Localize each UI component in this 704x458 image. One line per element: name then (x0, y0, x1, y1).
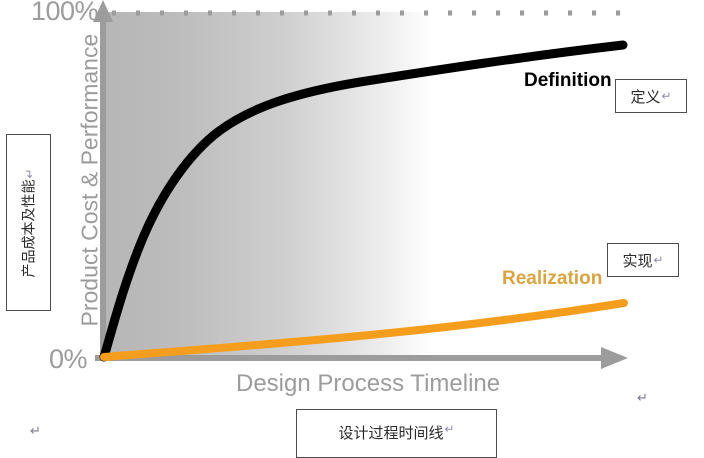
pilcrow-icon: ↵ (661, 89, 671, 103)
series-label-realization: Realization (502, 268, 602, 290)
x-axis-title: Design Process Timeline (236, 370, 500, 398)
annotation-box-cost-performance: 产品成本及性能↵ (6, 134, 51, 311)
series-label-definition: Definition (524, 70, 612, 92)
annotation-realization-text: 实现 (622, 250, 652, 271)
realization-curve (104, 303, 624, 357)
pilcrow-icon: ↵ (23, 168, 37, 178)
annotation-box-definition: 定义↵ (615, 79, 687, 113)
annotation-definition-text: 定义 (630, 86, 660, 107)
pilcrow-icon: ↵ (653, 253, 663, 267)
chart-canvas: 100% 0% Product Cost & Performance Desig… (0, 0, 704, 458)
annotation-box-realization: 实现↵ (607, 243, 679, 277)
pilcrow-icon-right: ↵ (637, 390, 648, 406)
pilcrow-icon: ↵ (444, 422, 454, 436)
y-axis-tick-top: 100% (31, 0, 98, 27)
annotation-timeline-text: 设计过程时间线 (338, 422, 443, 443)
y-axis-title: Product Cost & Performance (77, 37, 104, 327)
pilcrow-icon-bottom-left: ↵ (30, 423, 41, 439)
annotation-cost-performance-text: 产品成本及性能↵ (19, 168, 39, 277)
annotation-box-timeline: 设计过程时间线↵ (296, 409, 497, 458)
y-axis-tick-bottom: 0% (49, 344, 87, 375)
